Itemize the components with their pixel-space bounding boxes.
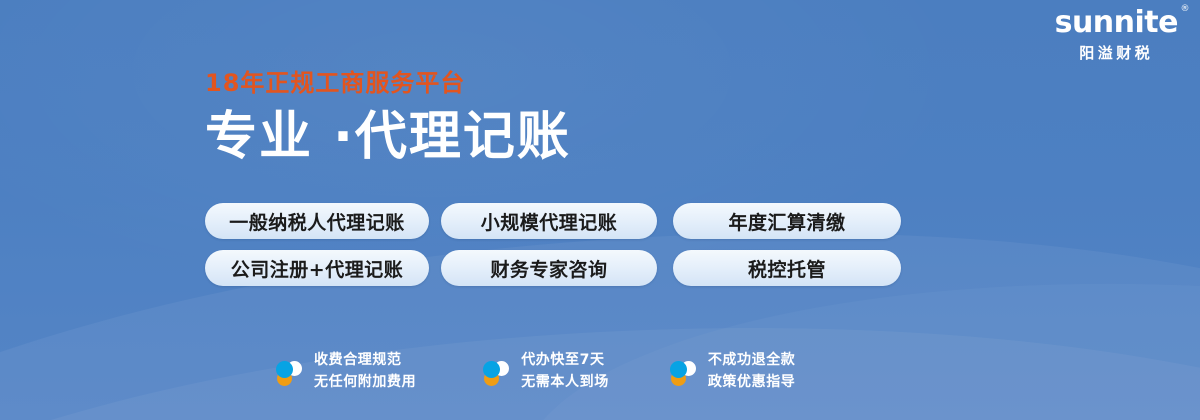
- hero-title: 专业 ·代理记账: [205, 108, 571, 168]
- feature-item-pricing: 收费合理规范 无任何附加费用: [275, 350, 416, 393]
- service-pill-tax-control-hosting[interactable]: 税控托管: [673, 250, 901, 286]
- service-pill-row-2: 公司注册+代理记账 财务专家咨询 税控托管: [205, 250, 901, 286]
- feature-line-1: 不成功退全款: [708, 350, 796, 372]
- service-pill-row-1: 一般纳税人代理记账 小规模代理记账 年度汇算清缴: [205, 203, 901, 239]
- registered-trademark-icon: ®: [1181, 5, 1190, 14]
- hero-text-block: 18年正规工商服务平台 专业 ·代理记账: [205, 70, 571, 168]
- feature-item-speed: 代办快至7天 无需本人到场: [482, 350, 609, 393]
- service-pill-general-taxpayer[interactable]: 一般纳税人代理记账: [205, 203, 429, 239]
- service-pill-expert-consulting[interactable]: 财务专家咨询: [441, 250, 657, 286]
- feature-line-1: 代办快至7天: [521, 350, 609, 372]
- feature-line-2: 无需本人到场: [521, 372, 609, 394]
- dual-circle-badge-icon: [482, 358, 512, 388]
- feature-line-2: 政策优惠指导: [708, 372, 796, 394]
- logo-wordmark: sunnite ®: [1055, 8, 1178, 38]
- service-pill-small-scale[interactable]: 小规模代理记账: [441, 203, 657, 239]
- badge-blue-circle-icon: [276, 361, 293, 378]
- feature-text-pricing: 收费合理规范 无任何附加费用: [314, 350, 416, 393]
- dual-circle-badge-icon: [669, 358, 699, 388]
- promo-banner: sunnite ® 阳溢财税 18年正规工商服务平台 专业 ·代理记账 一般纳税…: [0, 0, 1200, 420]
- hero-tagline: 18年正规工商服务平台: [205, 70, 571, 96]
- feature-line-1: 收费合理规范: [314, 350, 416, 372]
- feature-text-guarantee: 不成功退全款 政策优惠指导: [708, 350, 796, 393]
- feature-text-speed: 代办快至7天 无需本人到场: [521, 350, 609, 393]
- logo-wordmark-text: sunnite: [1055, 5, 1178, 40]
- brand-logo[interactable]: sunnite ® 阳溢财税: [1055, 8, 1178, 61]
- service-pill-company-registration[interactable]: 公司注册+代理记账: [205, 250, 429, 286]
- service-pill-group: 一般纳税人代理记账 小规模代理记账 年度汇算清缴 公司注册+代理记账 财务专家咨…: [205, 203, 901, 297]
- logo-chinese-name: 阳溢财税: [1055, 46, 1178, 61]
- feature-strip: 收费合理规范 无任何附加费用 代办快至7天 无需本人到场 不成功退全款: [275, 350, 795, 393]
- feature-line-2: 无任何附加费用: [314, 372, 416, 394]
- feature-item-guarantee: 不成功退全款 政策优惠指导: [669, 350, 796, 393]
- badge-blue-circle-icon: [670, 361, 687, 378]
- service-pill-annual-settlement[interactable]: 年度汇算清缴: [673, 203, 901, 239]
- badge-blue-circle-icon: [483, 361, 500, 378]
- dual-circle-badge-icon: [275, 358, 305, 388]
